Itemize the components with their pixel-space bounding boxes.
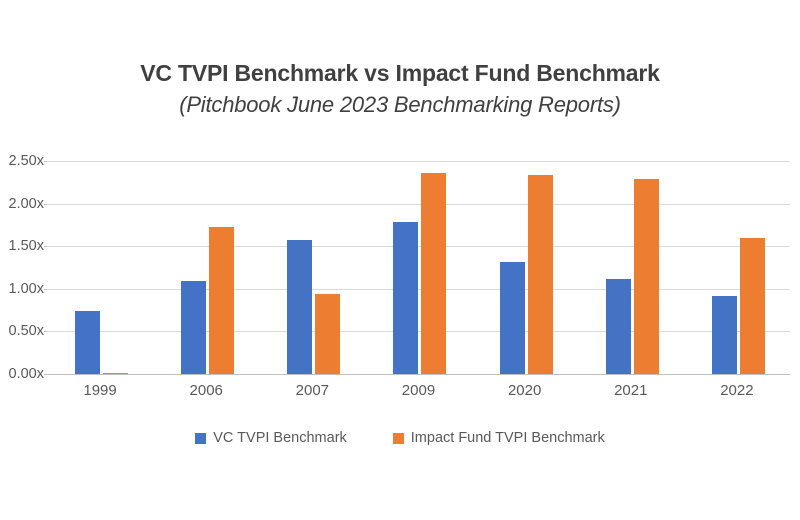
y-axis-tick-label: 0.50x — [0, 323, 44, 339]
legend-swatch-icon — [393, 433, 404, 444]
x-axis-tick-label: 2007 — [259, 382, 365, 399]
bar-2021-series-1[interactable] — [634, 179, 659, 374]
x-axis-tick-label: 2022 — [684, 382, 790, 399]
legend-swatch-icon — [195, 433, 206, 444]
bar-2009-series-0[interactable] — [393, 222, 418, 375]
y-axis-tickmark — [44, 374, 47, 375]
bar-group — [472, 161, 578, 374]
bar-2021-series-0[interactable] — [606, 279, 631, 374]
bar-2020-series-0[interactable] — [500, 262, 525, 374]
bar-2009-series-1[interactable] — [421, 173, 446, 374]
bar-2007-series-0[interactable] — [287, 240, 312, 374]
x-axis-tick-label: 2006 — [153, 382, 259, 399]
bar-group — [47, 161, 153, 374]
bar-1999-series-1[interactable] — [103, 373, 128, 375]
bar-group — [153, 161, 259, 374]
x-axis-tick-label: 2021 — [578, 382, 684, 399]
bar-2022-series-1[interactable] — [740, 238, 765, 374]
y-axis: 2.50x2.00x1.50x1.00x0.50x0.00x — [0, 161, 44, 374]
bar-2006-series-0[interactable] — [181, 281, 206, 374]
x-axis-line — [47, 374, 790, 375]
legend-label: VC TVPI Benchmark — [213, 430, 347, 446]
y-axis-tick-label: 1.50x — [0, 238, 44, 254]
x-axis-tick-label: 2020 — [472, 382, 578, 399]
y-axis-tick-label: 1.00x — [0, 281, 44, 297]
bar-group — [684, 161, 790, 374]
x-axis: 1999200620072009202020212022 — [47, 382, 790, 408]
x-axis-tick-label: 2009 — [365, 382, 471, 399]
bar-2006-series-1[interactable] — [209, 227, 234, 374]
bar-2020-series-1[interactable] — [528, 175, 553, 374]
bar-2007-series-1[interactable] — [315, 294, 340, 374]
legend-item-0[interactable]: VC TVPI Benchmark — [195, 430, 347, 446]
bars-layer — [47, 161, 790, 374]
chart-container: VC TVPI Benchmark vs Impact Fund Benchma… — [0, 0, 800, 520]
legend-label: Impact Fund TVPI Benchmark — [411, 430, 605, 446]
y-axis-tick-label: 2.50x — [0, 153, 44, 169]
legend-item-1[interactable]: Impact Fund TVPI Benchmark — [393, 430, 605, 446]
x-axis-tick-label: 1999 — [47, 382, 153, 399]
bar-2022-series-0[interactable] — [712, 296, 737, 374]
bar-group — [578, 161, 684, 374]
bar-group — [259, 161, 365, 374]
y-axis-tick-label: 0.00x — [0, 366, 44, 382]
bar-group — [365, 161, 471, 374]
bar-1999-series-0[interactable] — [75, 311, 100, 374]
chart-legend: VC TVPI BenchmarkImpact Fund TVPI Benchm… — [0, 430, 800, 446]
y-axis-tick-label: 2.00x — [0, 196, 44, 212]
